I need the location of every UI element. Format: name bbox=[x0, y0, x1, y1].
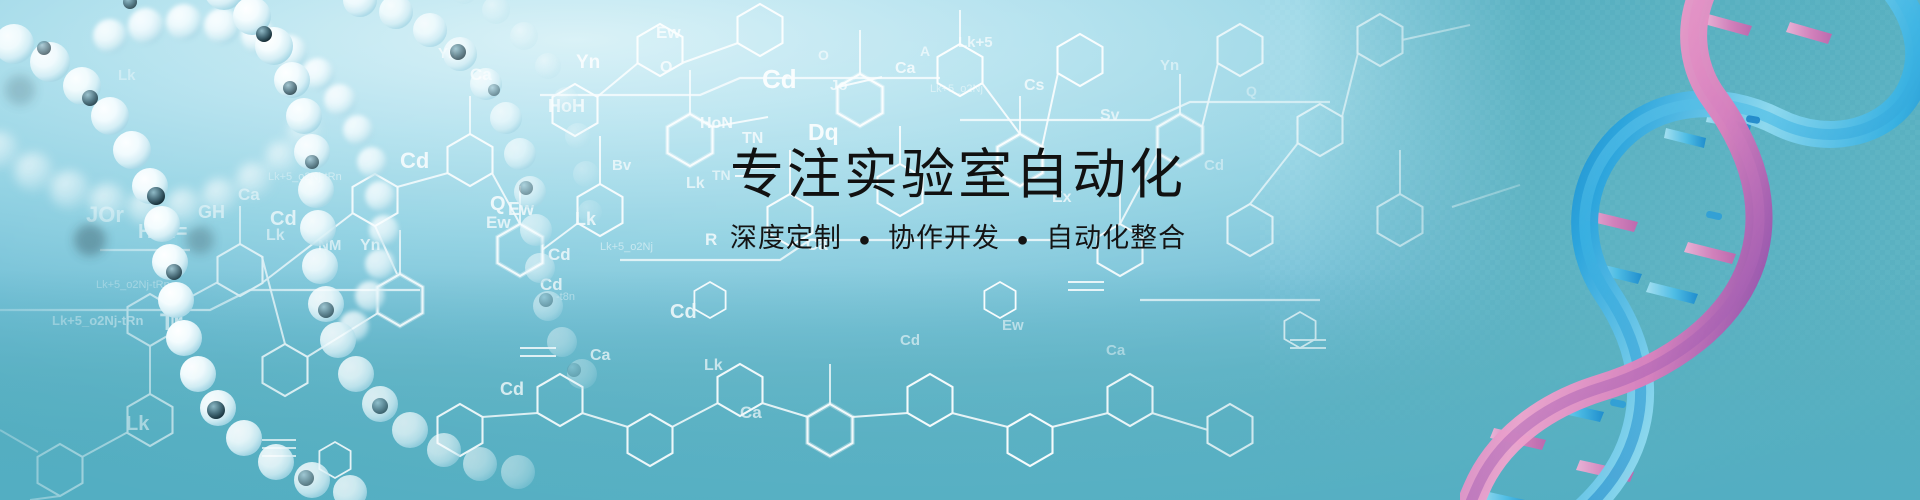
svg-text:Ca: Ca bbox=[1106, 342, 1126, 359]
svg-text:Ca: Ca bbox=[740, 403, 762, 422]
svg-text:Sv: Sv bbox=[1100, 107, 1120, 124]
svg-text:Cd: Cd bbox=[900, 332, 920, 349]
svg-text:Cd: Cd bbox=[762, 64, 797, 94]
svg-text:Yn: Yn bbox=[1160, 57, 1179, 74]
svg-text:Q: Q bbox=[1246, 83, 1257, 99]
svg-text:Ew: Ew bbox=[1002, 317, 1024, 334]
svg-text:O: O bbox=[818, 47, 829, 63]
ribbon-dna-helix-graphic bbox=[1460, 0, 1920, 500]
svg-text:Ca: Ca bbox=[895, 60, 916, 77]
svg-text:Lk+5_o2Nj: Lk+5_o2Nj bbox=[930, 83, 983, 95]
hero-text-block: 专注实验室自动化 深度定制 ● 协作开发 ● 自动化整合 bbox=[608, 146, 1308, 255]
svg-text:Lk+5: Lk+5 bbox=[958, 34, 993, 51]
hero-subtitle: 深度定制 ● 协作开发 ● 自动化整合 bbox=[608, 222, 1308, 254]
page-title: 专注实验室自动化 bbox=[608, 146, 1308, 204]
subtitle-segment-3: 自动化整合 bbox=[1044, 223, 1188, 253]
hero-banner: Cd Jo HoN R TN Dq Yn Ca Lk+5 HoH Cs Ex B… bbox=[0, 0, 1920, 500]
subtitle-segment-2: 协作开发 bbox=[886, 223, 1002, 253]
svg-text:A: A bbox=[920, 43, 930, 59]
bullet-separator-icon-2: ● bbox=[1011, 229, 1036, 251]
svg-text:Dq: Dq bbox=[808, 119, 839, 145]
svg-text:Jo: Jo bbox=[830, 77, 848, 94]
bullet-separator-icon: ● bbox=[852, 229, 877, 251]
svg-text:Cs: Cs bbox=[1024, 77, 1045, 94]
subtitle-segment-1: 深度定制 bbox=[728, 223, 844, 253]
